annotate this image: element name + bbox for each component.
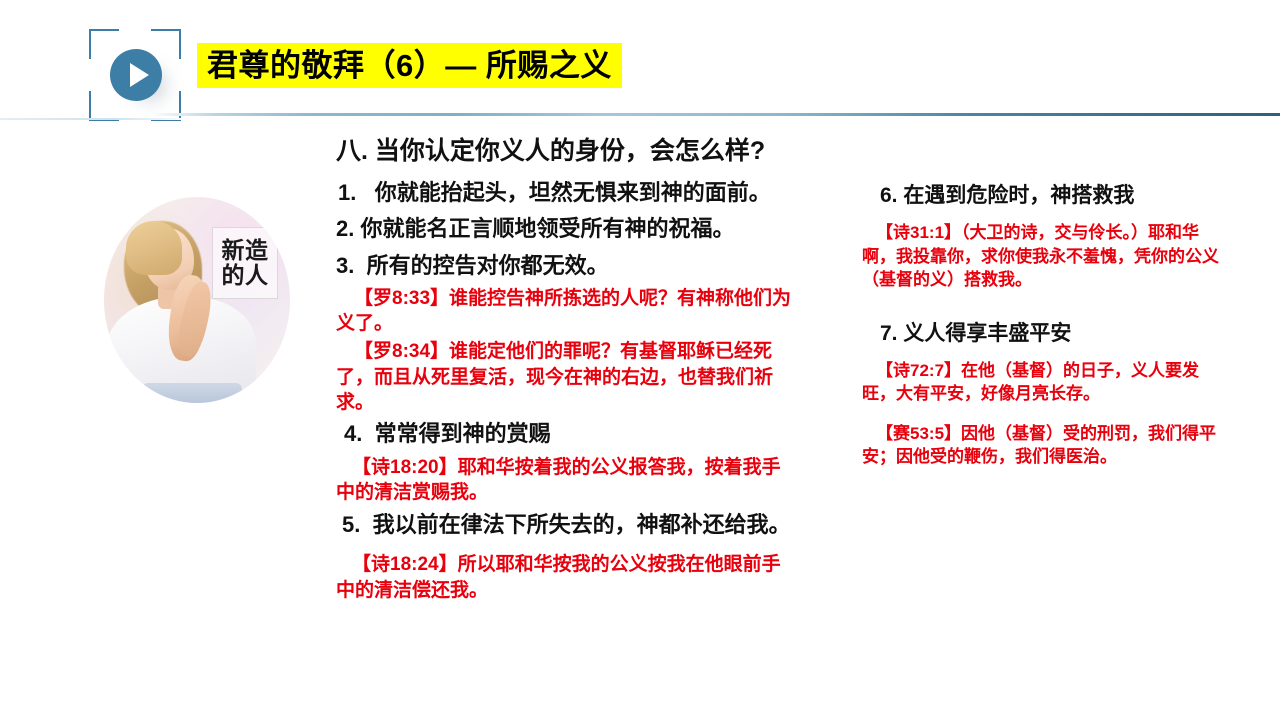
list-item-6-number: 6. xyxy=(880,184,898,207)
list-item-4: 4. 常常得到神的赏赐 xyxy=(344,418,856,449)
header-divider xyxy=(150,113,1280,116)
list-item-2-number: 2. xyxy=(336,216,354,241)
list-item-3-label: 所有的控告对你都无效。 xyxy=(367,253,609,278)
list-item-2-label: 你就能名正言顺地领受所有神的祝福。 xyxy=(360,216,734,241)
list-item-1: 1. 你就能抬起头，坦然无惧来到神的面前。 xyxy=(338,177,856,208)
photo-caption-line1: 新造 xyxy=(222,238,269,263)
frame-notch-top xyxy=(119,28,151,32)
play-triangle-icon xyxy=(130,63,149,87)
right-column-spacer xyxy=(862,306,1262,320)
slide-title-highlight: 君尊的敬拜（6）— 所赐之义 xyxy=(197,43,622,88)
list-item-7-label: 义人得享丰盛平安 xyxy=(903,322,1071,345)
photo-sash xyxy=(142,383,242,403)
verse-rom-8-34: 【罗8:34】谁能定他们的罪呢？有基督耶稣已经死了，而且从死里复活，现今在神的右… xyxy=(336,339,806,415)
list-item-3: 3. 所有的控告对你都无效。 xyxy=(336,250,856,281)
verse-ps-18-20: 【诗18:20】耶和华按着我的公义报答我，按着我手中的清洁赏赐我。 xyxy=(336,455,791,506)
slide-header: 君尊的敬拜（6）— 所赐之义 xyxy=(0,0,1280,128)
page-title: 君尊的敬拜（6）— 所赐之义 xyxy=(207,50,612,81)
verse-ps-31-1: 【诗31:1】（大卫的诗，交与伶长。）耶和华啊，我投靠你，求你使我永不羞愧，凭你… xyxy=(862,221,1232,291)
list-item-2: 2. 你就能名正言顺地领受所有神的祝福。 xyxy=(336,213,856,244)
verse-rom-8-33: 【罗8:33】谁能控告神所拣选的人呢？有神称他们为义了。 xyxy=(336,286,806,337)
photo-caption-line2: 的人 xyxy=(222,263,269,288)
right-content-column: 6. 在遇到危险时，神搭救我 【诗31:1】（大卫的诗，交与伶长。）耶和华啊，我… xyxy=(862,182,1262,483)
list-item-7-number: 7. xyxy=(880,322,898,345)
play-icon[interactable] xyxy=(110,49,162,101)
list-item-5: 5. 我以前在律法下所失去的，神都补还给我。 xyxy=(342,509,856,540)
frame-notch-right xyxy=(178,59,182,91)
list-item-5-label: 我以前在律法下所失去的，神都补还给我。 xyxy=(373,512,791,537)
list-item-1-number: 1. xyxy=(338,180,356,205)
verse-ps-72-7: 【诗72:7】在他（基督）的日子，义人要发旺，大有平安，好像月亮长存。 xyxy=(862,359,1232,406)
photo-hair-front xyxy=(126,221,182,275)
left-content-column: 八. 当你认定你义人的身份，会怎么样? 1. 你就能抬起头，坦然无惧来到神的面前… xyxy=(336,136,856,606)
list-item-7: 7. 义人得享丰盛平安 xyxy=(862,320,1262,347)
list-item-3-number: 3. xyxy=(336,253,354,278)
praying-woman-photo: 新造 的人 xyxy=(104,197,290,403)
list-item-4-label: 常常得到神的赏赐 xyxy=(375,421,551,446)
section-heading: 八. 当你认定你义人的身份，会怎么样? xyxy=(336,136,856,167)
list-item-1-label: 你就能抬起头，坦然无惧来到神的面前。 xyxy=(375,180,771,205)
verse-ps-18-24: 【诗18:24】所以耶和华按我的公义按我在他眼前手中的清洁偿还我。 xyxy=(336,552,791,603)
list-item-4-number: 4. xyxy=(344,421,362,446)
list-item-5-number: 5. xyxy=(342,512,360,537)
verse-isa-53-5: 【赛53:5】因他（基督）受的刑罚，我们得平安；因他受的鞭伤，我们得医治。 xyxy=(862,422,1232,469)
photo-caption: 新造 的人 xyxy=(212,227,278,299)
frame-notch-left xyxy=(88,59,92,91)
header-divider-left-tail xyxy=(0,118,190,120)
list-item-6: 6. 在遇到危险时，神搭救我 xyxy=(862,182,1262,209)
list-item-6-label: 在遇到危险时，神搭救我 xyxy=(903,184,1134,207)
